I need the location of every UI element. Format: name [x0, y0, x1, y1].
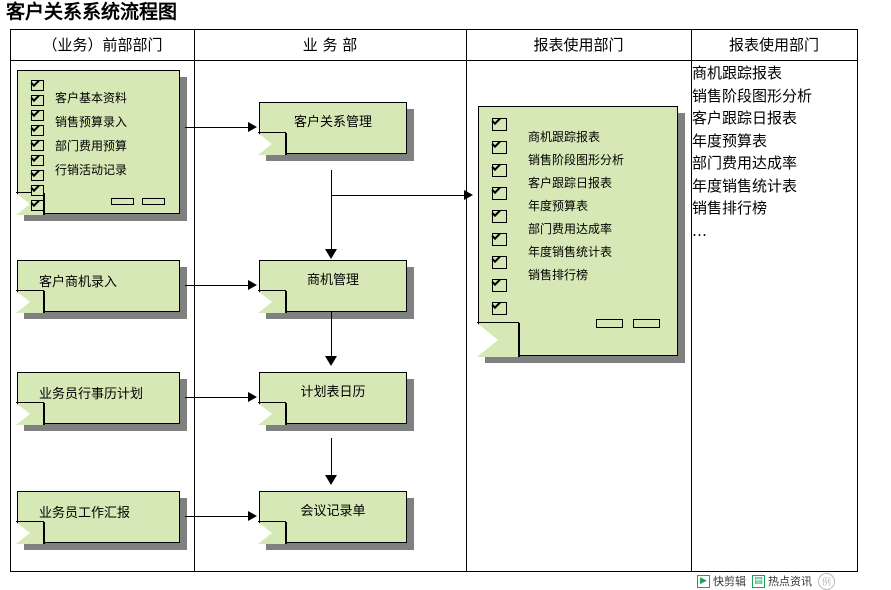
- checklist-item-label: 部门费用预算: [55, 139, 127, 154]
- news-icon: ▤: [752, 575, 765, 588]
- business-box-meeting-minutes[interactable]: 会议记录单: [259, 491, 407, 543]
- box-label: 计划表日历: [259, 385, 407, 401]
- report-dept-checklist-document[interactable]: 商机跟踪报表 销售阶段图形分析 客户跟踪日报表 年度预算表 部门费用达成率 年度…: [478, 106, 678, 356]
- lane-header-report-dept: 报表使用部门: [466, 30, 691, 60]
- check-icon: [492, 302, 507, 315]
- fold-edge-side: [285, 133, 287, 155]
- header-row-divider: [11, 60, 857, 61]
- arrow-head-icon: [248, 511, 257, 521]
- arrow-head-icon: [325, 356, 337, 366]
- fold-edge-side: [285, 522, 287, 544]
- play-icon: ▶: [697, 575, 710, 588]
- connector-work-report-to-meeting: [185, 516, 251, 517]
- document-fold-flap: [16, 403, 44, 425]
- report-list-item: 年度销售统计表: [692, 175, 812, 198]
- checklist-item-label: 部门费用达成率: [528, 222, 612, 237]
- checkbox-column: [492, 118, 508, 325]
- document-fold-flap: [16, 291, 44, 313]
- tab-mark-icon: [596, 319, 623, 328]
- check-icon: [492, 256, 507, 269]
- check-icon: [492, 164, 507, 177]
- document-fold-flap: [258, 133, 286, 155]
- check-icon: [31, 80, 44, 91]
- box-label: 客户商机录入: [17, 275, 180, 291]
- check-icon: [31, 155, 44, 166]
- check-icon: [31, 95, 44, 106]
- front-office-checklist-document[interactable]: 客户基本资料 销售预算录入 部门费用预算 行销活动记录: [17, 70, 180, 214]
- arrow-head-icon: [325, 475, 337, 485]
- business-box-opportunity-management[interactable]: 商机管理: [259, 260, 407, 312]
- connector-opportunity-down: [331, 312, 332, 362]
- tab-mark-icon: [111, 198, 134, 205]
- lane-divider-2: [466, 30, 467, 571]
- connector-crm-down: [331, 170, 332, 255]
- check-icon: [31, 110, 44, 121]
- page-title: 客户关系系统流程图: [6, 0, 177, 24]
- check-icon: [492, 279, 507, 292]
- lane-header-report-list: 报表使用部门: [691, 30, 857, 60]
- check-icon: [492, 187, 507, 200]
- document-tab-marks: [111, 198, 165, 205]
- fold-edge-side: [285, 291, 287, 313]
- checklist-item-label: 销售预算录入: [55, 115, 127, 130]
- fold-edge-top: [258, 290, 286, 292]
- checklist-item-label: 客户基本资料: [55, 91, 127, 106]
- front-office-box-customer-opportunity-entry[interactable]: 客户商机录入: [17, 260, 180, 312]
- check-icon: [492, 210, 507, 223]
- check-icon: [31, 125, 44, 136]
- checklist-item-label: 年度预算表: [528, 199, 588, 214]
- front-office-box-salesperson-work-report[interactable]: 业务员工作汇报: [17, 491, 180, 543]
- connector-schedule-down: [331, 438, 332, 480]
- arrow-head-icon: [325, 249, 337, 259]
- document-tab-marks: [596, 319, 660, 328]
- fold-edge-side: [285, 403, 287, 425]
- checklist-item-label: 客户跟踪日报表: [528, 176, 612, 191]
- taskbar-item-label: 热点资讯: [768, 573, 812, 589]
- front-office-box-salesperson-calendar-plan[interactable]: 业务员行事历计划: [17, 372, 180, 424]
- report-list-item: 销售阶段图形分析: [692, 85, 812, 108]
- box-label: 商机管理: [259, 273, 407, 289]
- fold-edge-top: [258, 132, 286, 134]
- document-fold-flap: [258, 403, 286, 425]
- arrow-head-icon: [248, 122, 257, 132]
- report-list-item: …: [692, 220, 812, 243]
- report-list-item: 年度预算表: [692, 130, 812, 153]
- fold-edge-side: [518, 323, 520, 357]
- connector-calendar-plan-to-schedule: [185, 397, 251, 398]
- report-list: 商机跟踪报表 销售阶段图形分析 客户跟踪日报表 年度预算表 部门费用达成率 年度…: [692, 62, 812, 242]
- box-label: 业务员工作汇报: [17, 506, 180, 522]
- document-fold-flap: [258, 291, 286, 313]
- business-box-schedule-calendar[interactable]: 计划表日历: [259, 372, 407, 424]
- checklist-item-label: 行销活动记录: [55, 163, 127, 178]
- connector-crm-to-reports: [331, 195, 467, 196]
- document-fold-flap: [258, 522, 286, 544]
- check-icon: [492, 233, 507, 246]
- checklist-item-label: 销售阶段图形分析: [528, 153, 624, 168]
- check-icon: [492, 141, 507, 154]
- mini-taskbar[interactable]: ▶ 快剪辑 ▤ 热点资讯 例: [697, 572, 835, 590]
- fold-edge-side: [43, 291, 45, 313]
- check-icon: [492, 118, 507, 131]
- lane-header-front-office: （业务）前部部门: [11, 30, 194, 60]
- box-label: 客户关系管理: [259, 115, 407, 131]
- report-list-item: 销售排行榜: [692, 197, 812, 220]
- business-box-crm[interactable]: 客户关系管理: [259, 102, 407, 154]
- document-fold-flap: [16, 522, 44, 544]
- check-icon: [31, 200, 44, 211]
- taskbar-item-quick-edit[interactable]: ▶ 快剪辑: [697, 573, 746, 589]
- tab-mark-icon: [142, 198, 165, 205]
- document-fold-flap: [477, 323, 519, 357]
- check-icon: [31, 170, 44, 181]
- arrow-head-icon: [464, 190, 473, 200]
- taskbar-item-hot-news[interactable]: ▤ 热点资讯: [752, 573, 812, 589]
- taskbar-item-label: 快剪辑: [713, 573, 746, 589]
- circle-badge-icon[interactable]: 例: [818, 573, 835, 590]
- report-list-item: 商机跟踪报表: [692, 62, 812, 85]
- checklist-item-label: 销售排行榜: [528, 268, 588, 283]
- check-icon: [31, 185, 44, 196]
- report-list-item: 部门费用达成率: [692, 152, 812, 175]
- box-label: 业务员行事历计划: [17, 387, 180, 403]
- checklist-item-label: 年度销售统计表: [528, 245, 612, 260]
- fold-edge-top: [258, 402, 286, 404]
- fold-edge-side: [43, 403, 45, 425]
- checkbox-column: [31, 80, 47, 215]
- checklist-item-label: 商机跟踪报表: [528, 130, 600, 145]
- arrow-head-icon: [248, 392, 257, 402]
- lane-divider-1: [194, 30, 195, 571]
- fold-edge-top: [258, 521, 286, 523]
- tab-mark-icon: [633, 319, 660, 328]
- lane-header-business-dept: 业 务 部: [194, 30, 466, 60]
- arrow-head-icon: [248, 280, 257, 290]
- report-list-item: 客户跟踪日报表: [692, 107, 812, 130]
- fold-edge-side: [43, 522, 45, 544]
- connector-opportunity-entry-to-management: [185, 285, 251, 286]
- connector-checklist-to-crm: [185, 127, 251, 128]
- box-label: 会议记录单: [259, 504, 407, 520]
- check-icon: [31, 140, 44, 151]
